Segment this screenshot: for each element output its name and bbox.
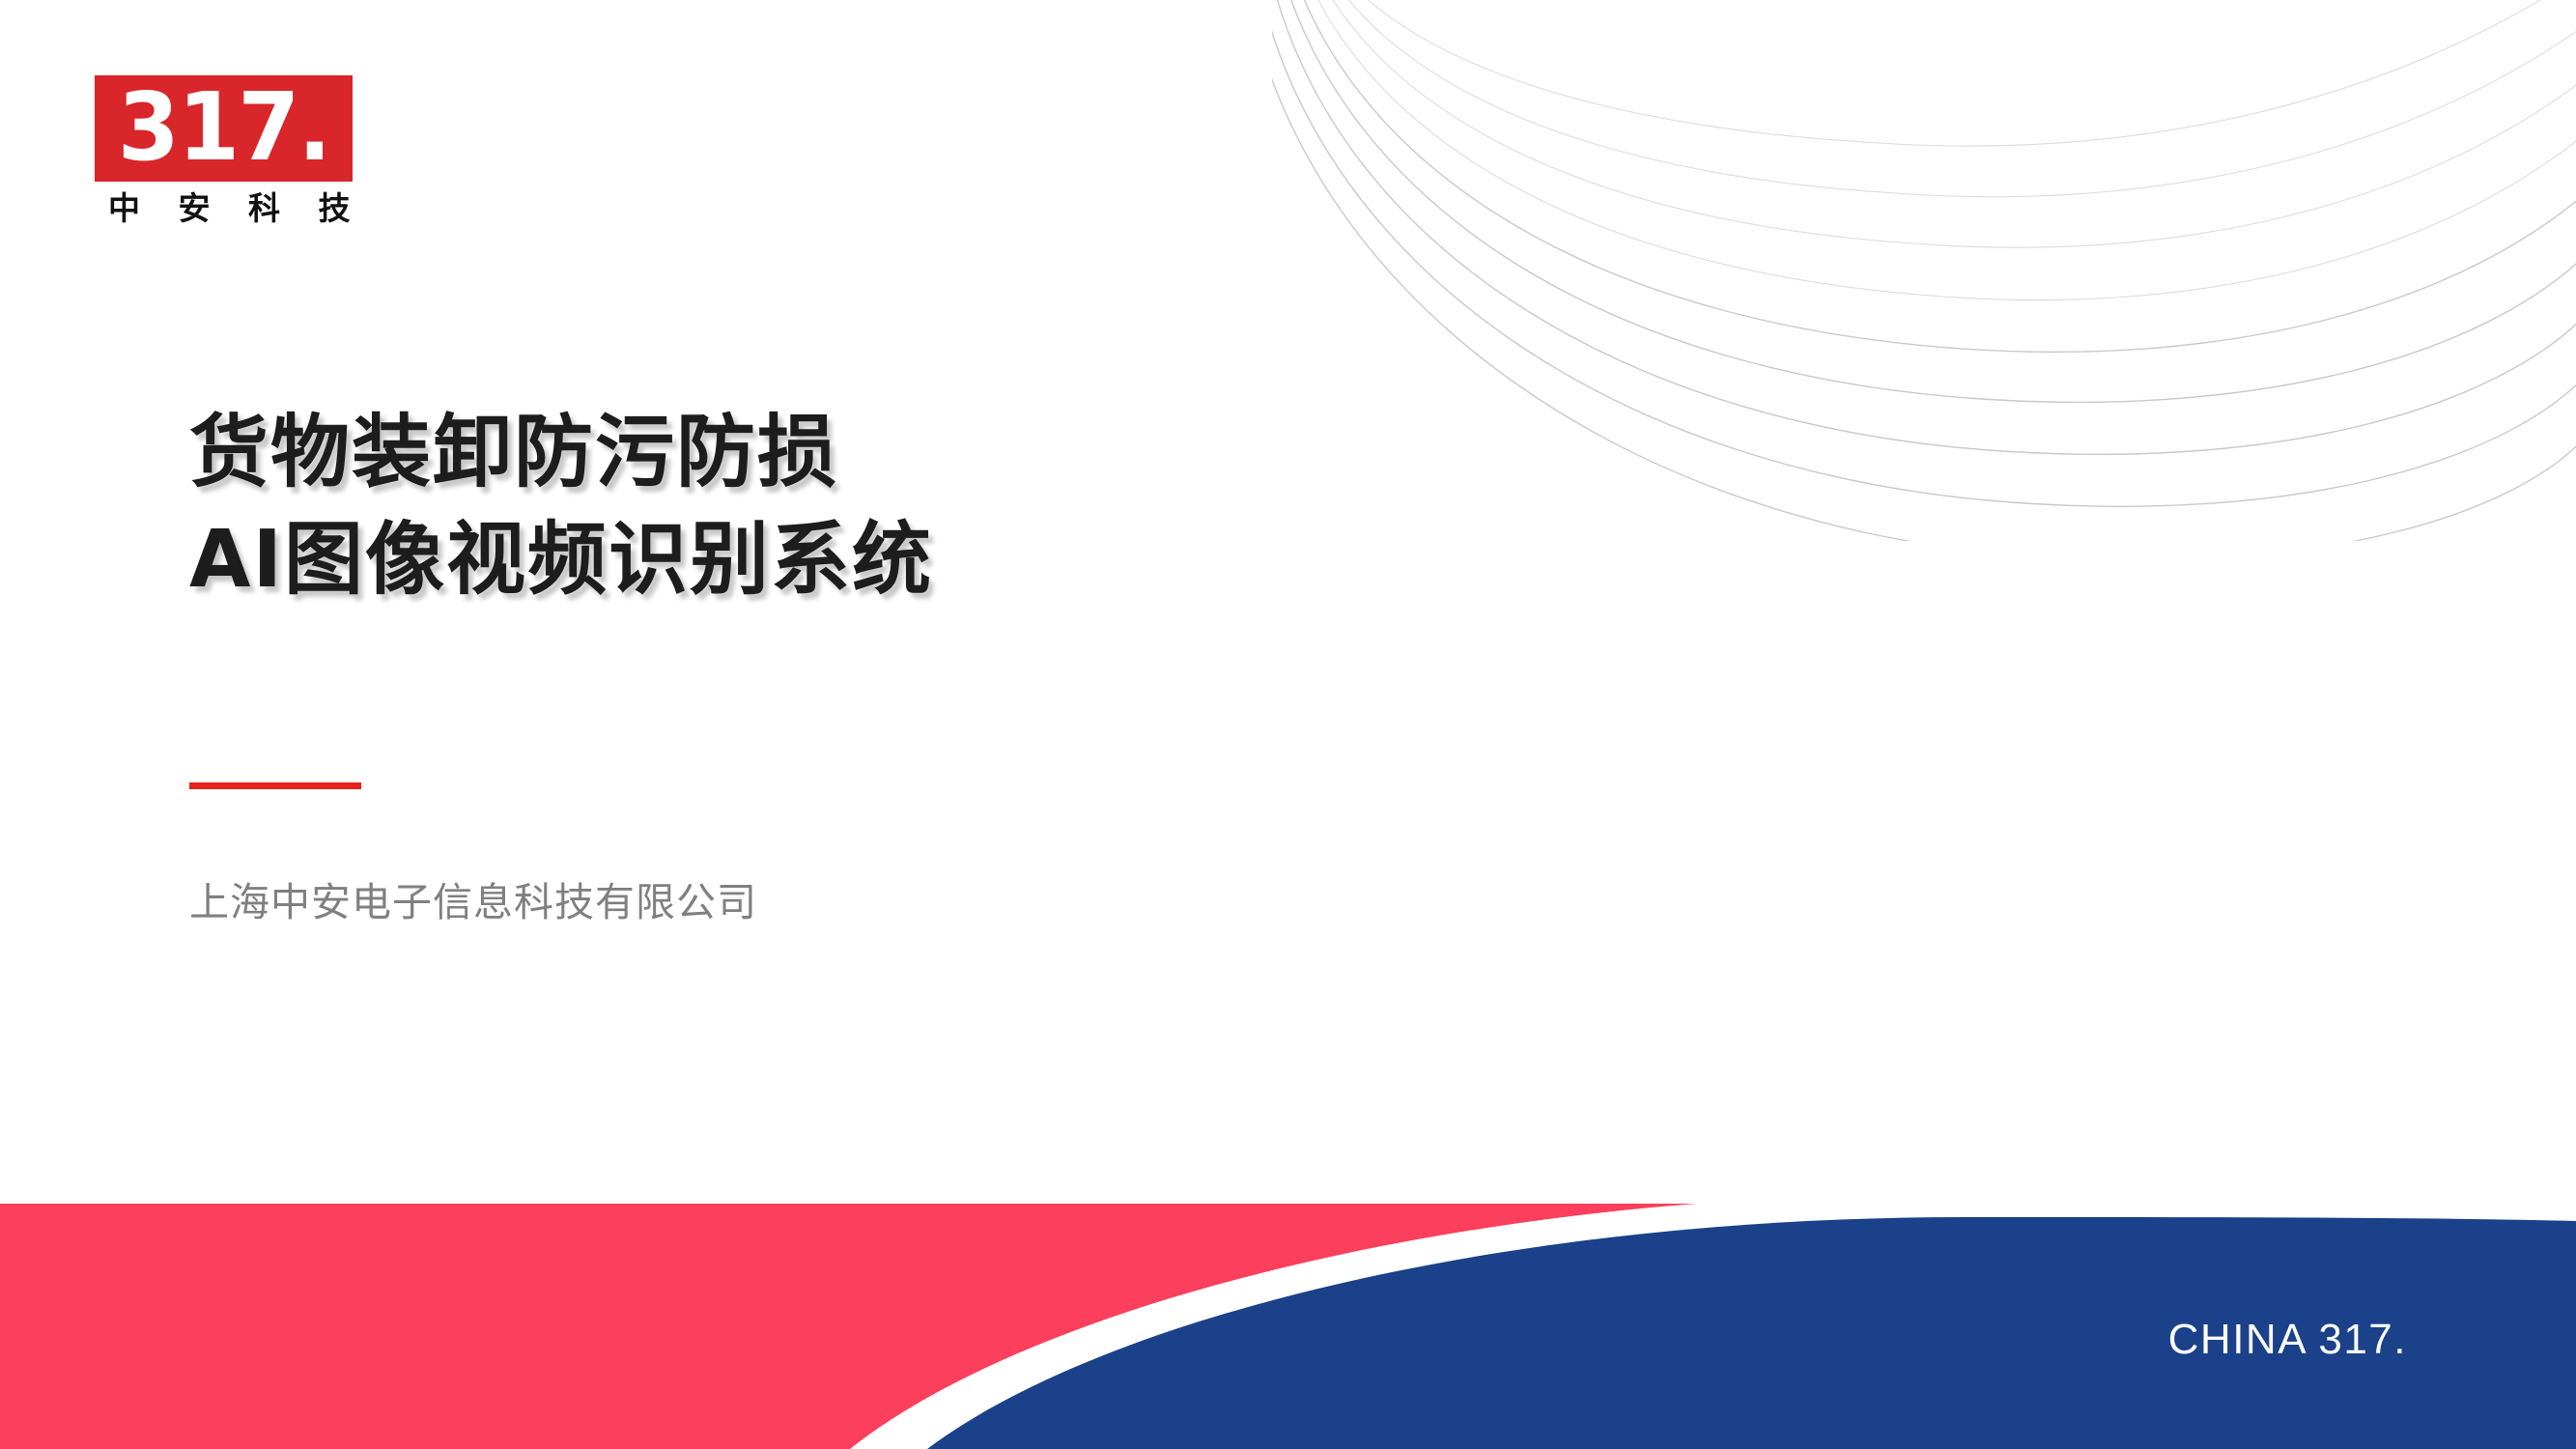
company-logo: 317. 中 安 科 技 — [95, 75, 355, 226]
logo-mark-text: 317. — [118, 80, 330, 174]
footer-brand-label: CHINA 317. — [2168, 1316, 2407, 1364]
logo-mark-317: 317. — [95, 75, 353, 182]
footer-banner: CHINA 317. — [0, 1204, 2576, 1449]
page-title-line-2: AI图像视频识别系统 — [189, 507, 1445, 614]
page-title-line-1: 货物装卸防污防损 — [189, 400, 1445, 507]
page-title: 货物装卸防污防损 AI图像视频识别系统 — [189, 400, 1445, 613]
logo-company-short-name: 中 安 科 技 — [95, 192, 353, 226]
presentation-slide: 317. 中 安 科 技 货物装卸防污防损 AI图像视频识别系统 上海中安电子信… — [0, 0, 2576, 1449]
decorative-curves — [1272, 0, 2576, 541]
company-full-name: 上海中安电子信息科技有限公司 — [189, 877, 757, 928]
title-divider — [189, 782, 361, 789]
